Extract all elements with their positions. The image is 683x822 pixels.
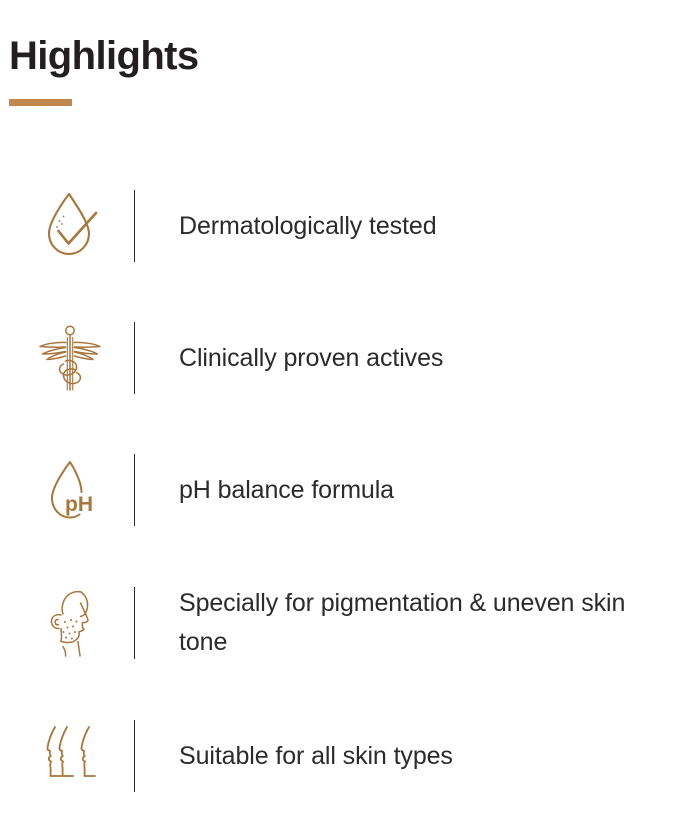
ph-droplet-icon-label: pH: [65, 493, 93, 516]
highlight-item-ph-balance-formula: pH pH balance formula: [0, 424, 683, 556]
text-cell: pH balance formula: [135, 471, 683, 510]
face-pigmentation-icon: [37, 585, 103, 661]
highlights-list: Dermatologically tested: [0, 160, 683, 822]
icon-cell: [0, 690, 134, 822]
page-title: Highlights: [9, 33, 649, 79]
highlight-label: Specially for pigmentation & uneven skin…: [179, 584, 679, 662]
ph-droplet-icon: pH: [40, 454, 100, 526]
highlight-item-clinically-proven-actives: Clinically proven actives: [0, 292, 683, 424]
highlight-label: Suitable for all skin types: [179, 737, 679, 776]
highlights-page: Highlights: [0, 0, 683, 800]
icon-cell: [0, 160, 134, 292]
icon-cell: [0, 292, 134, 424]
title-accent-bar: [9, 99, 72, 106]
highlight-item-pigmentation: Specially for pigmentation & uneven skin…: [0, 556, 683, 690]
page-header: Highlights: [9, 33, 649, 106]
icon-cell: [0, 557, 134, 689]
text-cell: Suitable for all skin types: [135, 737, 683, 776]
highlight-label: pH balance formula: [179, 471, 679, 510]
highlight-item-all-skin-types: Suitable for all skin types: [0, 690, 683, 822]
caduceus-icon: [36, 320, 104, 396]
text-cell: Clinically proven actives: [135, 339, 683, 378]
three-faces-icon: [38, 721, 102, 791]
highlight-label: Clinically proven actives: [179, 339, 679, 378]
droplet-check-icon: [39, 188, 101, 264]
text-cell: Dermatologically tested: [135, 207, 683, 246]
text-cell: Specially for pigmentation & uneven skin…: [135, 584, 683, 662]
highlight-label: Dermatologically tested: [179, 207, 679, 246]
icon-cell: pH: [0, 424, 134, 556]
highlight-item-dermatologically-tested: Dermatologically tested: [0, 160, 683, 292]
